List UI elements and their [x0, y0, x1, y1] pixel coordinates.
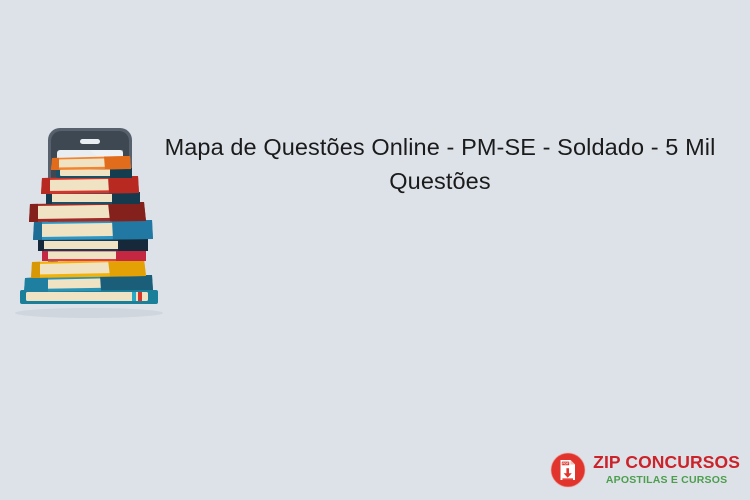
- book-pink: [42, 250, 146, 261]
- book-blue-thick: [33, 220, 153, 240]
- brand-logo[interactable]: PDF ZIP CONCURSOS APOSTILAS E CURSOS: [550, 448, 740, 492]
- book-orange-top: [51, 156, 131, 170]
- book-yellow: [31, 259, 146, 278]
- book-navy-mid: [38, 239, 148, 251]
- book-darkred: [29, 202, 146, 222]
- svg-text:PDF: PDF: [563, 462, 569, 466]
- stack-of-books-with-tablet-illustration: [12, 120, 167, 320]
- brand-tagline: APOSTILAS E CURSOS: [606, 475, 727, 486]
- hero-section: Mapa de Questões Online - PM-SE - Soldad…: [0, 110, 750, 310]
- poster-canvas: Mapa de Questões Online - PM-SE - Soldad…: [0, 0, 750, 500]
- book-red: [41, 176, 139, 194]
- brand-text: ZIP CONCURSOS APOSTILAS E CURSOS: [593, 454, 740, 486]
- poster-title-wrap: Mapa de Questões Online - PM-SE - Soldad…: [160, 130, 720, 198]
- pdf-download-circle-icon: PDF: [550, 452, 586, 488]
- brand-name: ZIP CONCURSOS: [593, 454, 740, 472]
- book-bottom-teal: [20, 290, 158, 304]
- page-title: Mapa de Questões Online - PM-SE - Soldad…: [160, 130, 720, 198]
